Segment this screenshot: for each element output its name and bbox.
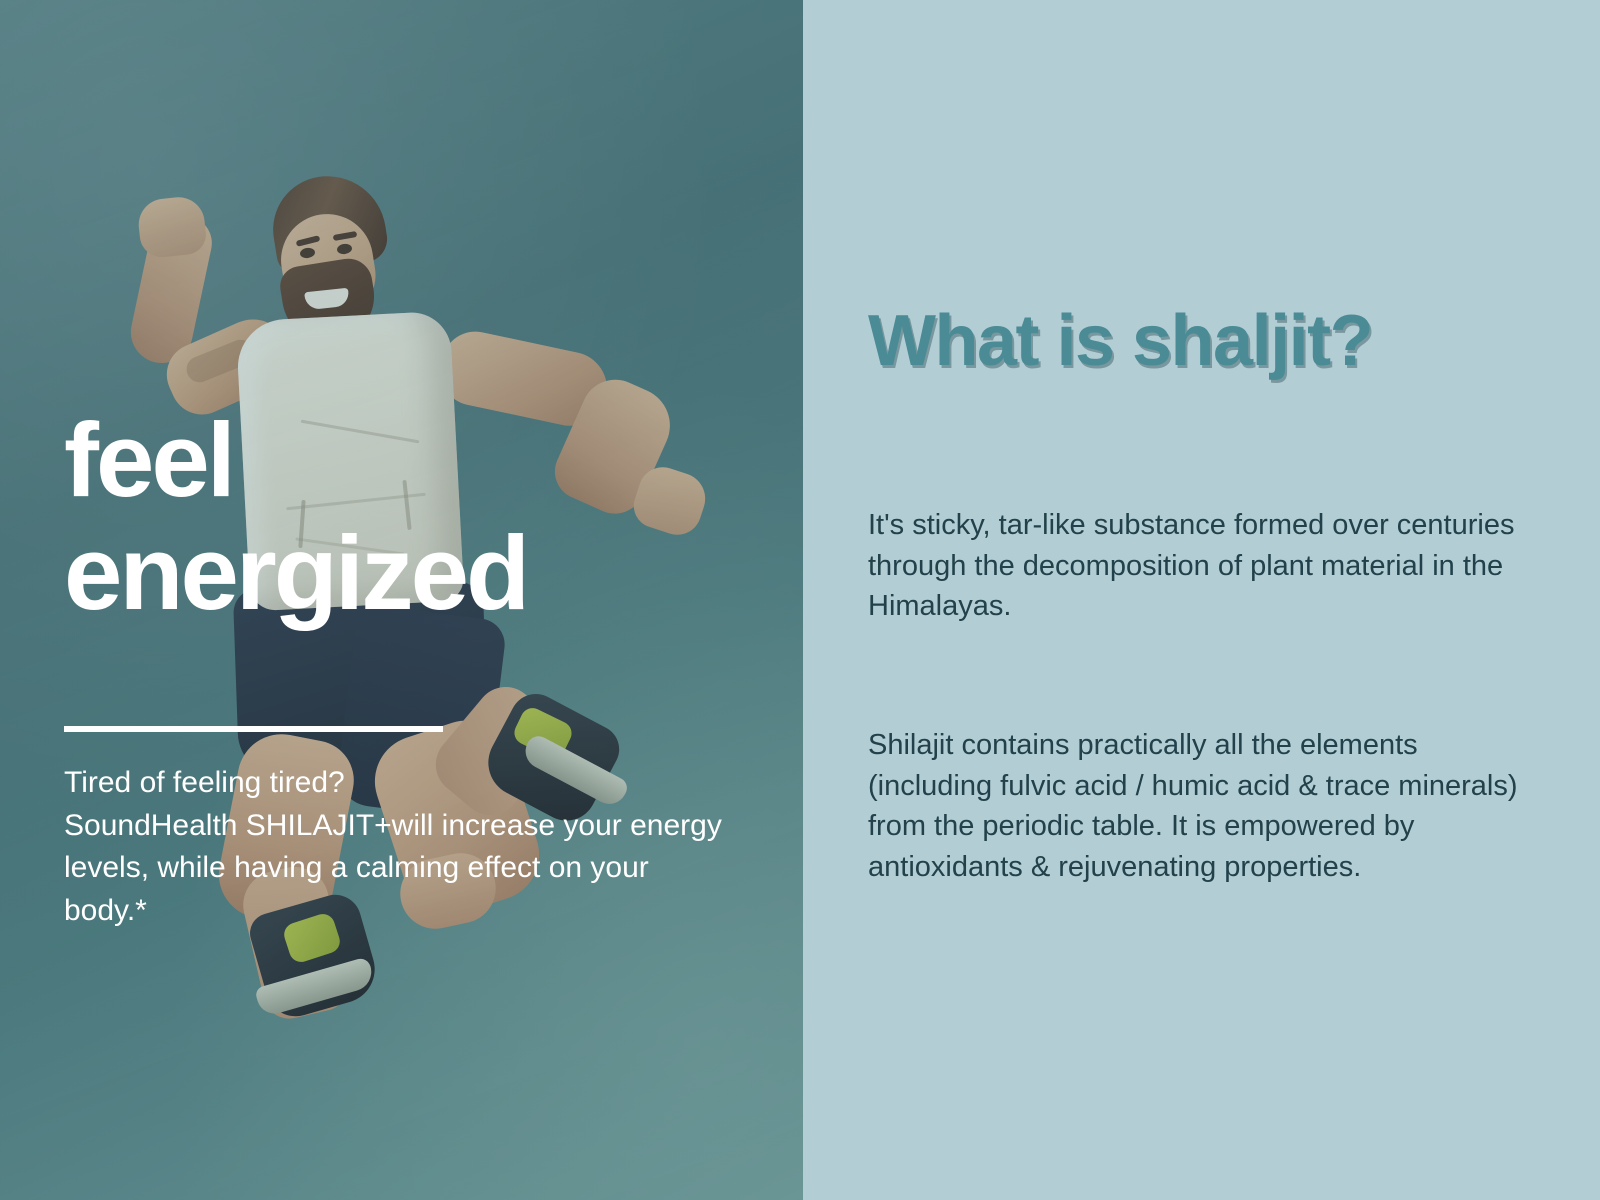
photo-haze-overlay xyxy=(0,0,803,1200)
right-content-panel: What is shaljit? It's sticky, tar-like s… xyxy=(803,0,1600,1200)
paragraph-definition: It's sticky, tar-like substance formed o… xyxy=(868,505,1528,627)
paragraph-composition: Shilajit contains practically all the el… xyxy=(868,725,1528,887)
left-hero-panel: feel energized Tired of feeling tired? S… xyxy=(0,0,803,1200)
slide-root: feel energized Tired of feeling tired? S… xyxy=(0,0,1600,1200)
section-title: What is shaljit? xyxy=(868,300,1372,382)
hero-photo-jumping-man xyxy=(0,0,803,1200)
